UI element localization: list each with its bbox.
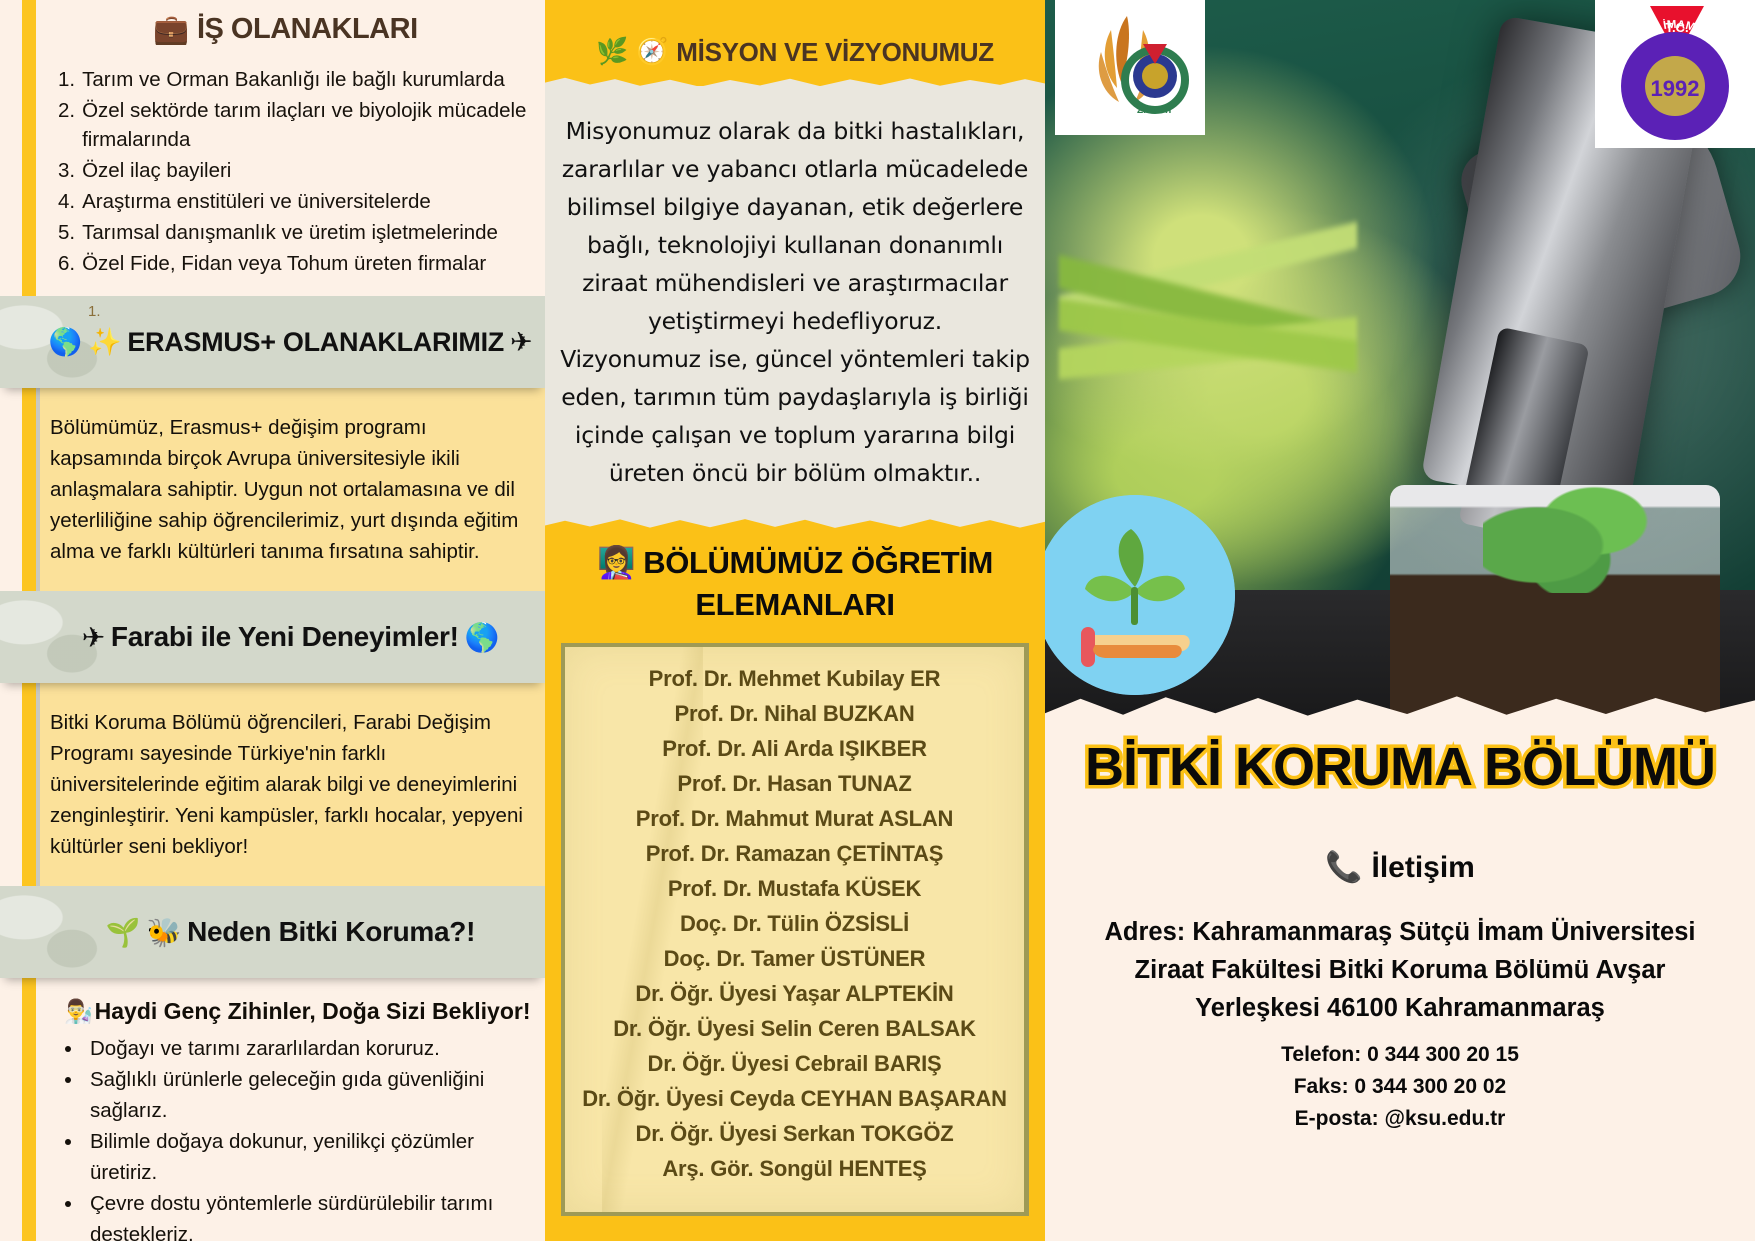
- list-item: 4.Araştırma enstitüleri ve üniversiteler…: [58, 187, 535, 216]
- contact-heading-text: İletişim: [1371, 851, 1474, 885]
- farabi-heading: ✈ Farabi ile Yeni Deneyimler! 🌎: [82, 621, 500, 654]
- list-item-number: 6.: [58, 249, 75, 278]
- erasmus-heading-ribbon: 🌎 ✨ ERASMUS+ OLANAKLARIMIZ ✈: [0, 296, 545, 388]
- globe-icon: 🌎: [49, 326, 82, 358]
- faculty-name: Prof. Dr. Mahmut Murat ASLAN: [571, 801, 1018, 836]
- address-line-3: Yerleşkesi 46100 Kahramanmaraş: [1071, 989, 1729, 1027]
- job-opportunities-section: 💼 İŞ OLANAKLARI 1.Tarım ve Orman Bakanlı…: [36, 0, 545, 278]
- fax-number: Faks: 0 344 300 20 02: [1071, 1071, 1729, 1103]
- address-line-2: Ziraat Fakültesi Bitki Koruma Bölümü Avş…: [1071, 951, 1729, 989]
- faculty-name: Prof. Dr. Ramazan ÇETİNTAŞ: [571, 836, 1018, 871]
- why-lead-text: Haydi Genç Zihinler, Doğa Sizi Bekliyor!: [95, 998, 531, 1025]
- list-item: Çevre dostu yöntemlerle sürdürülebilir t…: [84, 1188, 531, 1241]
- why-bullet-list: Doğayı ve tarımı zararlılardan koruruz. …: [84, 1033, 531, 1241]
- list-item-text: Araştırma enstitüleri ve üniversitelerde: [82, 187, 535, 216]
- why-plant-protection-ribbon: 🌱 🐝 Neden Bitki Koruma?!: [0, 886, 545, 978]
- farabi-heading-ribbon: ✈ Farabi ile Yeni Deneyimler! 🌎: [0, 591, 545, 683]
- mission-paragraph-1: Misyonumuz olarak da bitki hastalıkları,…: [559, 112, 1031, 340]
- briefcase-icon: 💼: [153, 12, 189, 47]
- faculty-name: Prof. Dr. Mustafa KÜSEK: [571, 871, 1018, 906]
- mission-heading: 🌿 🧭 MİSYON VE VİZYONUMUZ: [545, 0, 1045, 86]
- right-content: BİTKİ KORUMA BÖLÜMÜ 📞 İletişim Adres: Ka…: [1045, 726, 1755, 1241]
- list-item: Sağlıklı ürünlerle geleceğin gıda güvenl…: [84, 1064, 531, 1126]
- scientist-icon: 👨‍🔬: [64, 998, 93, 1025]
- mission-paragraph-2: Vizyonumuz ise, güncel yöntemleri takip …: [559, 340, 1031, 492]
- svg-text:1992: 1992: [1651, 76, 1700, 101]
- faculty-name: Dr. Öğr. Üyesi Yaşar ALPTEKİN: [571, 976, 1018, 1011]
- job-opportunities-title: İŞ OLANAKLARI: [197, 13, 418, 46]
- list-item: 6.Özel Fide, Fidan veya Tohum üreten fir…: [58, 249, 535, 278]
- faculty-name: Dr. Öğr. Üyesi Serkan TOKGÖZ: [571, 1116, 1018, 1151]
- list-item-text: Tarımsal danışmanlık ve üretim işletmele…: [82, 218, 535, 247]
- farabi-body-text: Bitki Koruma Bölümü öğrencileri, Farabi …: [50, 707, 527, 862]
- pot-plant-leaves: [1483, 473, 1663, 593]
- erasmus-body-panel: Bölümümüz, Erasmus+ değişim programı kap…: [36, 388, 545, 591]
- farabi-title: Farabi ile Yeni Deneyimler!: [111, 621, 459, 653]
- faculty-name: Dr. Öğr. Üyesi Ceyda CEYHAN BAŞARAN: [571, 1081, 1018, 1116]
- faculty-title-line1: BÖLÜMÜMÜZ ÖĞRETİM: [643, 545, 993, 581]
- faculty-name: Prof. Dr. Mehmet Kubilay ER: [571, 661, 1018, 696]
- contact-address: Adres: Kahramanmaraş Sütçü İmam Üniversi…: [1071, 913, 1729, 1027]
- faculty-name: Prof. Dr. Nihal BUZKAN: [571, 696, 1018, 731]
- faculty-names-card: Prof. Dr. Mehmet Kubilay ER Prof. Dr. Ni…: [561, 643, 1029, 1216]
- email-address[interactable]: E-posta: @ksu.edu.tr: [1071, 1103, 1729, 1135]
- list-item-number: 2.: [58, 96, 75, 154]
- list-item-number: 5.: [58, 218, 75, 247]
- list-item-number: 1.: [58, 65, 75, 94]
- ziraat-fakultesi-logo-icon: ZİRAAT: [1071, 8, 1189, 128]
- faculty-heading-line-1-row: 👩‍🏫 BÖLÜMÜMÜZ ÖĞRETİM: [555, 544, 1035, 581]
- phone-number: Telefon: 0 344 300 20 15: [1071, 1039, 1729, 1071]
- list-item-text: Özel ilaç bayileri: [82, 156, 535, 185]
- erasmus-marker: 1.: [88, 303, 101, 320]
- erasmus-title: ERASMUS+ OLANAKLARIMIZ: [127, 327, 504, 358]
- sparkles-icon: ✨: [88, 326, 121, 358]
- why-body-panel: 👨‍🔬 Haydi Genç Zihinler, Doğa Sizi Bekli…: [36, 978, 545, 1241]
- address-line-1: Adres: Kahramanmaraş Sütçü İmam Üniversi…: [1071, 913, 1729, 951]
- airplane-icon: ✈: [510, 327, 532, 358]
- svg-text:ZİRAAT: ZİRAAT: [1137, 103, 1173, 116]
- middle-column: 🌿 🧭 MİSYON VE VİZYONUMUZ Misyonumuz olar…: [545, 0, 1045, 1241]
- faculty-name: Arş. Gör. Songül HENTEŞ: [571, 1151, 1018, 1186]
- airplane-icon: ✈: [82, 621, 105, 654]
- faculty-name: Dr. Öğr. Üyesi Selin Ceren BALSAK: [571, 1011, 1018, 1046]
- ziraat-fakultesi-logo: ZİRAAT: [1055, 0, 1205, 135]
- mission-body-panel: Misyonumuz olarak da bitki hastalıkları,…: [545, 86, 1045, 518]
- ksu-university-seal: T.C. 1992 KAHRAMANMARAŞ SÜTÇÜ İMAM ÜNİVE…: [1595, 0, 1755, 148]
- ksu-university-seal-icon: T.C. 1992 KAHRAMANMARAŞ SÜTÇÜ İMAM ÜNİVE…: [1606, 4, 1744, 144]
- list-item-text: Özel sektörde tarım ilaçları ve biyoloji…: [82, 96, 535, 154]
- list-item: Doğayı ve tarımı zararlılardan koruruz.: [84, 1033, 531, 1064]
- faculty-name: Prof. Dr. Ali Arda IŞIKBER: [571, 731, 1018, 766]
- phone-icon: 📞: [1325, 850, 1362, 885]
- teacher-icon: 👩‍🏫: [597, 544, 635, 581]
- seedling-icon: 🌱: [106, 916, 141, 949]
- list-item-number: 4.: [58, 187, 75, 216]
- why-title: Neden Bitki Koruma?!: [187, 916, 475, 948]
- list-item: 5.Tarımsal danışmanlık ve üretim işletme…: [58, 218, 535, 247]
- mission-title: MİSYON VE VİZYONUMUZ: [676, 37, 994, 68]
- list-item-text: Tarım ve Orman Bakanlığı ile bağlı kurum…: [82, 65, 535, 94]
- why-lead-line: 👨‍🔬 Haydi Genç Zihinler, Doğa Sizi Bekli…: [64, 998, 531, 1025]
- job-opportunities-list: 1.Tarım ve Orman Bakanlığı ile bağlı kur…: [58, 65, 535, 278]
- erasmus-body-text: Bölümümüz, Erasmus+ değişim programı kap…: [50, 412, 527, 567]
- herb-icon: 🌿: [596, 37, 628, 67]
- list-item-number: 3.: [58, 156, 75, 185]
- faculty-title-line2: ELEMANLARI: [555, 587, 1035, 623]
- list-item: 2.Özel sektörde tarım ilaçları ve biyolo…: [58, 96, 535, 154]
- faculty-name: Doç. Dr. Tamer ÜSTÜNER: [571, 941, 1018, 976]
- list-item-text: Özel Fide, Fidan veya Tohum üreten firma…: [82, 249, 535, 278]
- right-column: ZİRAAT T.C. 1992 KAHRAMANMARAŞ SÜTÇÜ İMA…: [1045, 0, 1755, 1241]
- list-item: 1.Tarım ve Orman Bakanlığı ile bağlı kur…: [58, 65, 535, 94]
- job-opportunities-heading: 💼 İŞ OLANAKLARI: [36, 6, 535, 47]
- erasmus-heading: 🌎 ✨ ERASMUS+ OLANAKLARIMIZ ✈: [49, 326, 533, 358]
- farabi-body-panel: Bitki Koruma Bölümü öğrencileri, Farabi …: [36, 683, 545, 886]
- faculty-heading: 👩‍🏫 BÖLÜMÜMÜZ ÖĞRETİM ELEMANLARI: [545, 518, 1045, 623]
- faculty-name: Prof. Dr. Hasan TUNAZ: [571, 766, 1018, 801]
- left-column: 💼 İŞ OLANAKLARI 1.Tarım ve Orman Bakanlı…: [0, 0, 545, 1241]
- compass-icon: 🧭: [636, 37, 668, 67]
- list-item: Bilimle doğaya dokunur, yenilikçi çözüml…: [84, 1126, 531, 1188]
- list-item: 3.Özel ilaç bayileri: [58, 156, 535, 185]
- page-title: BİTKİ KORUMA BÖLÜMÜ: [1071, 736, 1729, 798]
- faculty-name: Dr. Öğr. Üyesi Cebrail BARIŞ: [571, 1046, 1018, 1081]
- why-heading: 🌱 🐝 Neden Bitki Koruma?!: [106, 916, 475, 949]
- contact-heading: 📞 İletişim: [1071, 850, 1729, 885]
- brochure-page: 💼 İŞ OLANAKLARI 1.Tarım ve Orman Bakanlı…: [0, 0, 1755, 1241]
- ladybug-icon: 🐝: [146, 916, 181, 949]
- contact-numbers: Telefon: 0 344 300 20 15 Faks: 0 344 300…: [1071, 1039, 1729, 1135]
- globe-icon: 🌎: [465, 621, 500, 654]
- faculty-name: Doç. Dr. Tülin ÖZSİSLİ: [571, 906, 1018, 941]
